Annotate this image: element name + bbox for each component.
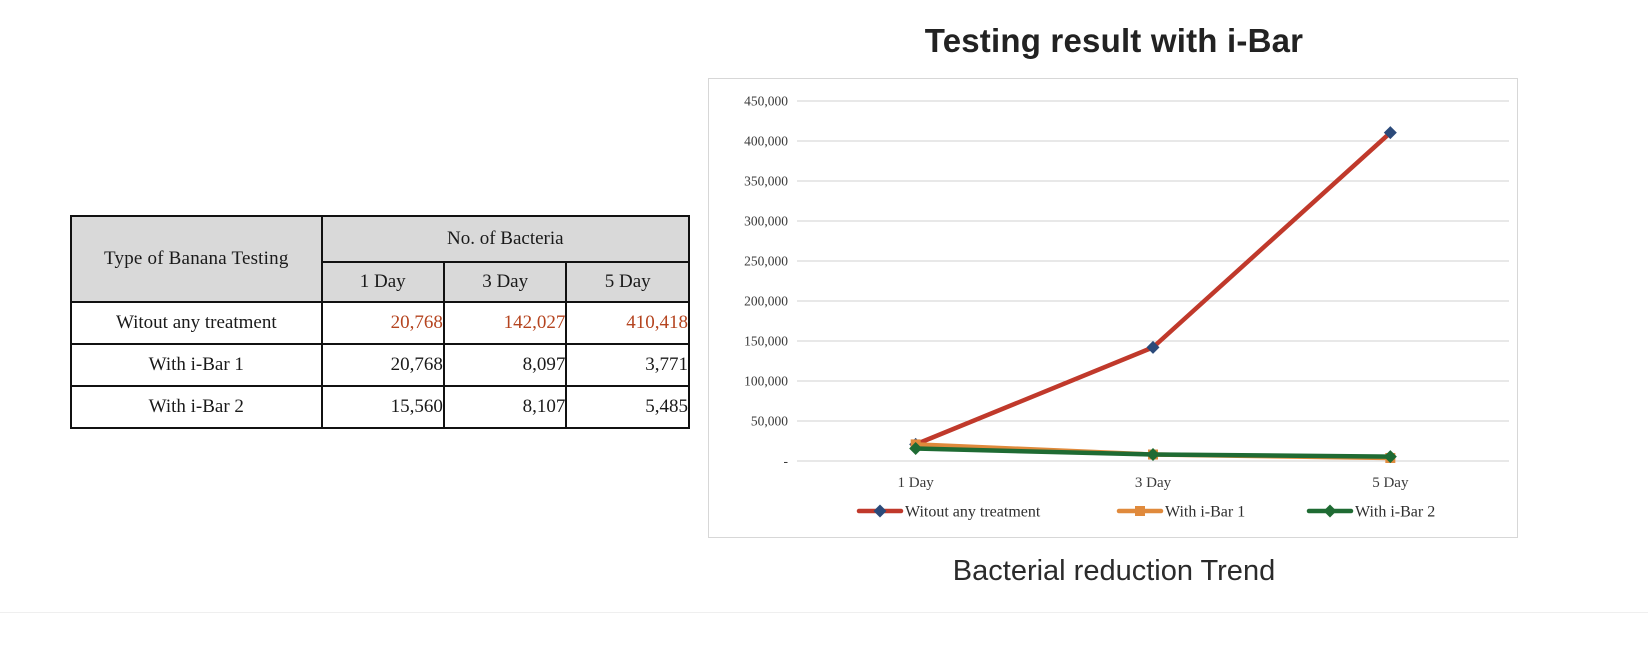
legend-item[interactable]: With i-Bar 1 <box>1119 504 1245 521</box>
header-day-5: 5 Day <box>566 262 689 302</box>
header-day-3: 3 Day <box>444 262 567 302</box>
chart-legend: Witout any treatmentWith i-Bar 1With i-B… <box>859 504 1435 521</box>
slide-bottom-divider <box>0 612 1648 613</box>
legend-label: Witout any treatment <box>905 504 1041 521</box>
y-tick-label: 250,000 <box>744 254 788 269</box>
legend-label: With i-Bar 1 <box>1165 504 1245 521</box>
table-head: Type of Banana Testing No. of Bacteria 1… <box>71 216 689 302</box>
chart-series-layer <box>909 126 1397 463</box>
header-day-1: 1 Day <box>322 262 444 302</box>
x-tick-label: 1 Day <box>898 475 935 491</box>
row-label-without-treatment: Witout any treatment <box>71 302 322 344</box>
cell-ibar1-day3: 8,097 <box>444 344 567 386</box>
chart-series <box>909 126 1397 451</box>
row-label-ibar-2: With i-Bar 2 <box>71 386 322 428</box>
chart-title: Testing result with i-Bar <box>708 22 1520 60</box>
legend-label: With i-Bar 2 <box>1355 504 1435 521</box>
table-row: Witout any treatment 20,768 142,027 410,… <box>71 302 689 344</box>
y-tick-label: 450,000 <box>744 94 788 109</box>
cell-ibar2-day1: 15,560 <box>322 386 444 428</box>
cell-without-treatment-day1: 20,768 <box>322 302 444 344</box>
line-chart: -50,000100,000150,000200,000250,000300,0… <box>709 79 1519 537</box>
chart-gridlines <box>797 101 1509 461</box>
y-tick-label: - <box>784 454 789 469</box>
x-axis-tick-labels: 1 Day3 Day5 Day <box>898 475 1409 491</box>
table-header-row-1: Type of Banana Testing No. of Bacteria <box>71 216 689 262</box>
header-type-of-banana-testing: Type of Banana Testing <box>71 216 322 302</box>
chart-caption: Bacterial reduction Trend <box>708 555 1520 588</box>
cell-without-treatment-day3: 142,027 <box>444 302 567 344</box>
row-label-ibar-1: With i-Bar 1 <box>71 344 322 386</box>
y-tick-label: 150,000 <box>744 334 788 349</box>
bacteria-count-table-container: Type of Banana Testing No. of Bacteria 1… <box>70 215 690 429</box>
legend-item[interactable]: Witout any treatment <box>859 504 1041 521</box>
y-tick-label: 50,000 <box>751 414 788 429</box>
table-row: With i-Bar 2 15,560 8,107 5,485 <box>71 386 689 428</box>
chart-panel: -50,000100,000150,000200,000250,000300,0… <box>708 78 1518 538</box>
cell-without-treatment-day5: 410,418 <box>566 302 689 344</box>
y-tick-label: 300,000 <box>744 214 788 229</box>
legend-item[interactable]: With i-Bar 2 <box>1309 504 1435 521</box>
table-body: Witout any treatment 20,768 142,027 410,… <box>71 302 689 428</box>
cell-ibar2-day5: 5,485 <box>566 386 689 428</box>
y-tick-label: 100,000 <box>744 374 788 389</box>
header-no-of-bacteria: No. of Bacteria <box>322 216 689 262</box>
cell-ibar1-day1: 20,768 <box>322 344 444 386</box>
y-axis-tick-labels: -50,000100,000150,000200,000250,000300,0… <box>744 94 788 469</box>
cell-ibar2-day3: 8,107 <box>444 386 567 428</box>
cell-ibar1-day5: 3,771 <box>566 344 689 386</box>
slide-canvas: Type of Banana Testing No. of Bacteria 1… <box>0 0 1648 654</box>
y-tick-label: 350,000 <box>744 174 788 189</box>
table-row: With i-Bar 1 20,768 8,097 3,771 <box>71 344 689 386</box>
x-tick-label: 3 Day <box>1135 475 1172 491</box>
bacteria-count-table: Type of Banana Testing No. of Bacteria 1… <box>70 215 690 429</box>
y-tick-label: 400,000 <box>744 134 788 149</box>
x-tick-label: 5 Day <box>1372 475 1409 491</box>
y-tick-label: 200,000 <box>744 294 788 309</box>
